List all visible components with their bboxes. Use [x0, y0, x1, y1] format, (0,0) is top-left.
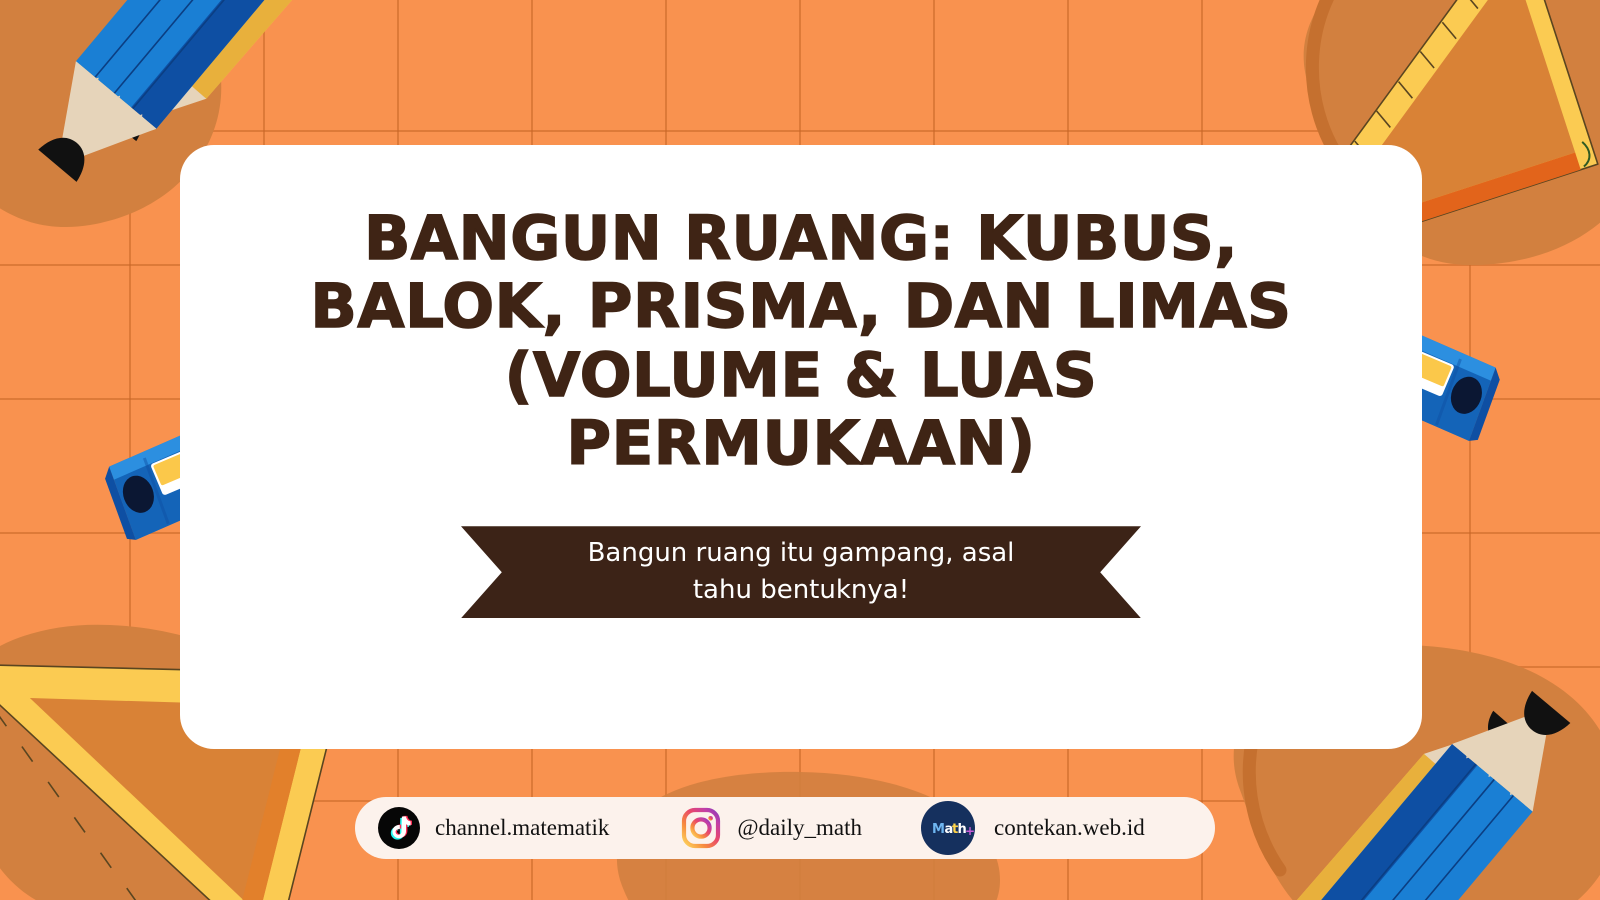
instagram-icon	[679, 806, 723, 850]
website-url: contekan.web.id	[994, 815, 1145, 841]
social-footer-bar: channel.matematik	[355, 797, 1215, 859]
tiktok-handle: channel.matematik	[435, 815, 609, 841]
title-line-3: (VOLUME & LUAS	[301, 342, 1301, 410]
footer-item-tiktok[interactable]: channel.matematik	[377, 797, 609, 859]
footer-item-website[interactable]: M a t h + contekan.web.id	[920, 797, 1145, 859]
instagram-handle: @daily_math	[737, 815, 862, 841]
subtitle-text: Bangun ruang itu gampang, asal tahu bent…	[541, 535, 1061, 610]
subtitle-line-1: Bangun ruang itu gampang, asal	[541, 535, 1061, 573]
svg-text:+: +	[965, 824, 975, 838]
slide-canvas: BANGUN RUANG: KUBUS, BALOK, PRISMA, DAN …	[0, 0, 1600, 900]
subtitle-ribbon: Bangun ruang itu gampang, asal tahu bent…	[461, 526, 1141, 618]
title-line-4: PERMUKAAN)	[301, 410, 1301, 478]
tiktok-icon	[377, 806, 421, 850]
footer-item-instagram[interactable]: @daily_math	[679, 797, 862, 859]
title-line-1: BANGUN RUANG: KUBUS,	[301, 205, 1301, 273]
content-card: BANGUN RUANG: KUBUS, BALOK, PRISMA, DAN …	[180, 145, 1422, 749]
subtitle-line-2: tahu bentuknya!	[541, 572, 1061, 610]
page-title: BANGUN RUANG: KUBUS, BALOK, PRISMA, DAN …	[301, 205, 1301, 478]
math-plus-logo: M a t h +	[920, 800, 976, 856]
svg-text:M: M	[932, 822, 945, 837]
title-line-2: BALOK, PRISMA, DAN LIMAS	[301, 273, 1301, 341]
